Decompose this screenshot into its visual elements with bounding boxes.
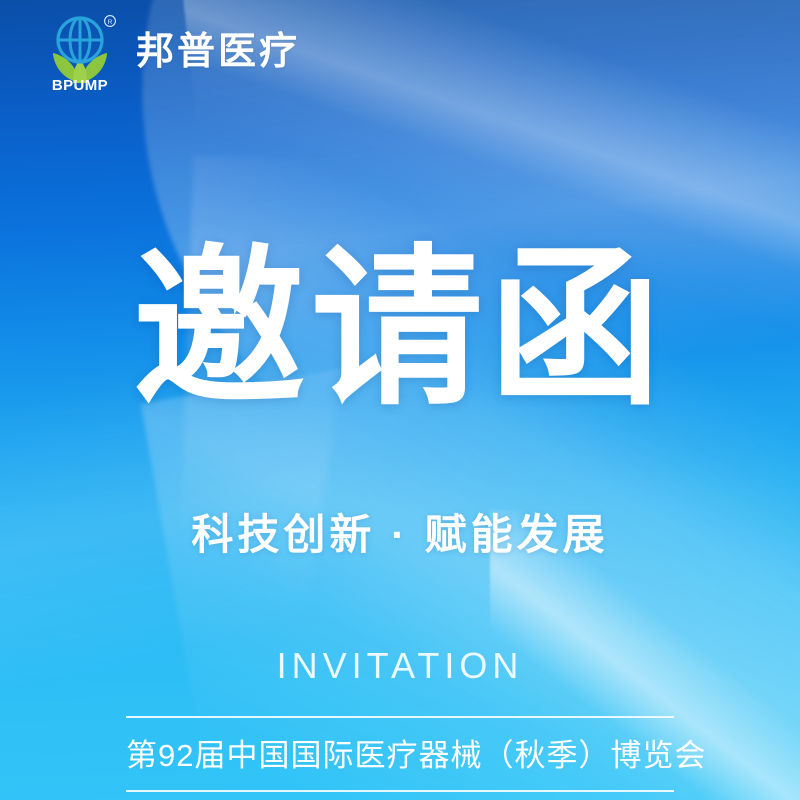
invitation-poster: R BPUMP 邦普医疗 邀请函 科技创新 · 赋能发展 INVITATION … — [0, 0, 800, 800]
hero-title-block: 邀请函 — [0, 243, 800, 415]
invitation-latin-label: INVITATION — [0, 648, 800, 684]
brand-header: R BPUMP 邦普医疗 — [0, 0, 800, 104]
footer-rule-bottom — [126, 790, 674, 792]
background-glow-left — [0, 79, 370, 800]
page-title: 邀请函 — [133, 243, 667, 415]
footer-rule-top — [126, 716, 674, 718]
brand-name-label: 邦普医疗 — [136, 33, 300, 71]
hero-subtitle: 科技创新 · 赋能发展 — [0, 510, 800, 560]
svg-text:BPUMP: BPUMP — [52, 77, 108, 91]
bpump-globe-leaf-logo-icon: R BPUMP — [44, 13, 118, 91]
svg-text:R: R — [108, 19, 113, 26]
event-name-label: 第92届中国国际医疗器械（秋季）博览会 — [126, 738, 674, 774]
footer-block: 第92届中国国际医疗器械（秋季）博览会 — [126, 716, 674, 792]
